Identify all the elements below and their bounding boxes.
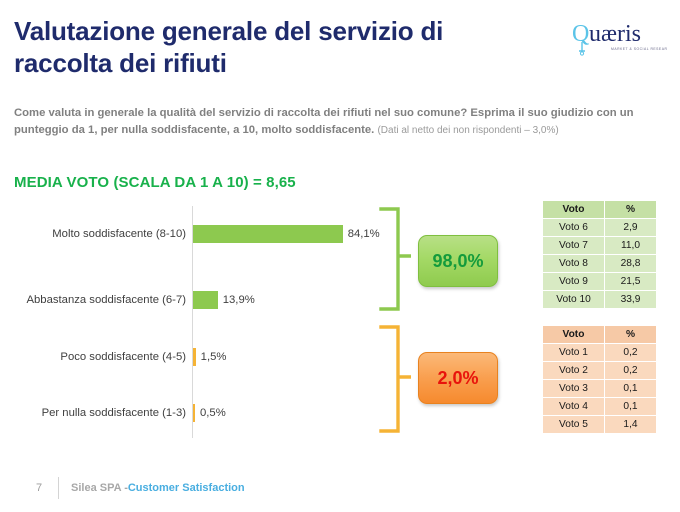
table-row: Voto 10 33,9 bbox=[543, 291, 657, 309]
quaeris-logo: Q uæris MARKET & SOCIAL RESEARCH bbox=[571, 18, 667, 58]
table-header-cell: Voto bbox=[543, 201, 605, 219]
table-header-cell: Voto bbox=[543, 326, 605, 344]
chart-bar bbox=[193, 291, 218, 309]
svg-text:Q: Q bbox=[572, 21, 589, 47]
green-bracket-shape bbox=[378, 206, 414, 312]
chart-bar-value: 13,9% bbox=[223, 289, 255, 311]
footer-company: Silea SPA - bbox=[71, 482, 128, 494]
logo-mark: Q uæris MARKET & SOCIAL RESEARCH bbox=[571, 18, 667, 58]
page-number: 7 bbox=[36, 482, 58, 494]
table-header-cell: % bbox=[605, 326, 657, 344]
table-cell: 0,2 bbox=[605, 362, 657, 380]
mean-score-label: MEDIA VOTO (SCALA DA 1 A 10) = 8,65 bbox=[14, 174, 296, 191]
chart-category-label: Per nulla soddisfacente (1-3) bbox=[0, 402, 186, 424]
table-cell: 1,4 bbox=[605, 416, 657, 434]
orange-bracket-shape bbox=[378, 324, 414, 434]
table-row: Voto 5 1,4 bbox=[543, 416, 657, 434]
table-cell: Voto 1 bbox=[543, 344, 605, 362]
table-header-row: Voto % bbox=[543, 326, 657, 344]
chart-row-2: Poco soddisfacente (4-5) 1,5% bbox=[0, 346, 360, 368]
chart-bar bbox=[193, 348, 196, 366]
table-cell: Voto 5 bbox=[543, 416, 605, 434]
callout-positive-total: 98,0% bbox=[418, 235, 498, 287]
table-row: Voto 2 0,2 bbox=[543, 362, 657, 380]
table-row: Voto 8 28,8 bbox=[543, 255, 657, 273]
chart-row-3: Per nulla soddisfacente (1-3) 0,5% bbox=[0, 402, 360, 424]
chart-bar bbox=[193, 225, 343, 243]
slide-footer: 7 Silea SPA - Customer Satisfaction bbox=[36, 476, 245, 500]
chart-bar-value: 0,5% bbox=[200, 402, 226, 424]
table-cell: 0,1 bbox=[605, 380, 657, 398]
svg-text:uæris: uæris bbox=[589, 21, 641, 47]
table-row: Voto 3 0,1 bbox=[543, 380, 657, 398]
chart-bar-value: 1,5% bbox=[201, 346, 227, 368]
table-cell: Voto 6 bbox=[543, 219, 605, 237]
table-header-row: Voto % bbox=[543, 201, 657, 219]
chart-bar-value: 84,1% bbox=[348, 223, 380, 245]
logo-tagline: MARKET & SOCIAL RESEARCH bbox=[611, 47, 667, 51]
table-cell: 11,0 bbox=[605, 237, 657, 255]
table-cell: Voto 4 bbox=[543, 398, 605, 416]
footer-accent: Customer Satisfaction bbox=[128, 482, 245, 494]
chart-row-0: Molto soddisfacente (8-10) 84,1% bbox=[0, 223, 360, 245]
table-negative-votes: Voto % Voto 1 0,2 Voto 2 0,2 Voto 3 0,1 … bbox=[542, 325, 657, 434]
table-cell: Voto 8 bbox=[543, 255, 605, 273]
table-cell: Voto 2 bbox=[543, 362, 605, 380]
callout-negative-total: 2,0% bbox=[418, 352, 498, 404]
table-cell: 2,9 bbox=[605, 219, 657, 237]
table-header-cell: % bbox=[605, 201, 657, 219]
table-positive-votes: Voto % Voto 6 2,9 Voto 7 11,0 Voto 8 28,… bbox=[542, 200, 657, 309]
table-cell: Voto 3 bbox=[543, 380, 605, 398]
table-cell: 0,2 bbox=[605, 344, 657, 362]
green-bracket bbox=[378, 206, 414, 312]
table-cell: 28,8 bbox=[605, 255, 657, 273]
chart-bar bbox=[193, 404, 195, 422]
table-row: Voto 9 21,5 bbox=[543, 273, 657, 291]
table-cell: 33,9 bbox=[605, 291, 657, 309]
page-title: Valutazione generale del servizio di rac… bbox=[14, 16, 514, 79]
orange-bracket bbox=[378, 324, 414, 434]
bar-chart: Molto soddisfacente (8-10) 84,1% Abbasta… bbox=[0, 206, 360, 438]
question-note: (Dati al netto dei non rispondenti – 3,0… bbox=[377, 125, 558, 136]
table-row: Voto 6 2,9 bbox=[543, 219, 657, 237]
chart-category-label: Abbastanza soddisfacente (6-7) bbox=[0, 289, 186, 311]
chart-category-label: Molto soddisfacente (8-10) bbox=[0, 223, 186, 245]
table-row: Voto 4 0,1 bbox=[543, 398, 657, 416]
table-row: Voto 1 0,2 bbox=[543, 344, 657, 362]
chart-category-label: Poco soddisfacente (4-5) bbox=[0, 346, 186, 368]
chart-row-1: Abbastanza soddisfacente (6-7) 13,9% bbox=[0, 289, 360, 311]
question-text: Come valuta in generale la qualità del s… bbox=[14, 105, 654, 139]
table-cell: 21,5 bbox=[605, 273, 657, 291]
table-row: Voto 7 11,0 bbox=[543, 237, 657, 255]
table-cell: 0,1 bbox=[605, 398, 657, 416]
table-cell: Voto 9 bbox=[543, 273, 605, 291]
table-cell: Voto 7 bbox=[543, 237, 605, 255]
footer-divider bbox=[58, 477, 59, 499]
table-cell: Voto 10 bbox=[543, 291, 605, 309]
